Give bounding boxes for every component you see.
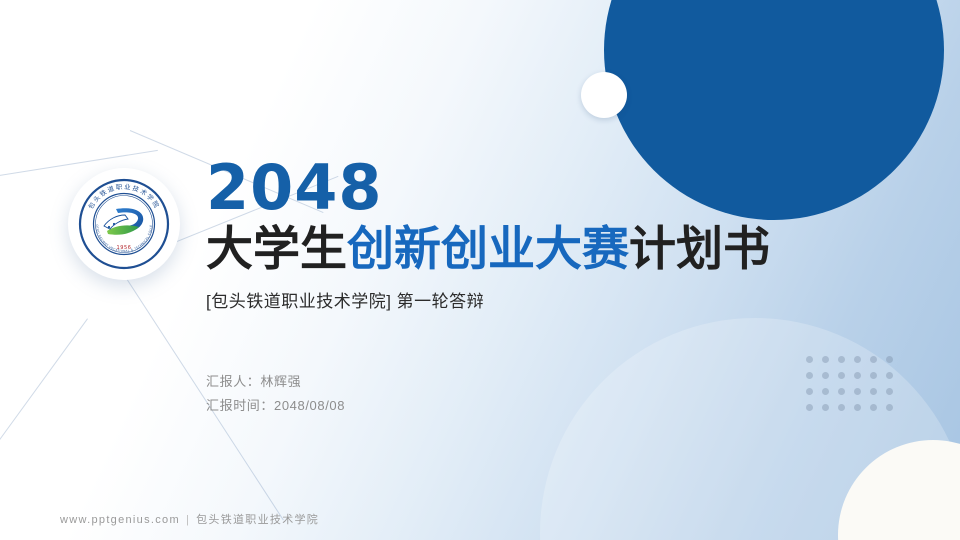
footer-website: www.pptgenius.com [60, 514, 180, 526]
presentation-meta: 汇报人：林辉强 汇报时间：2048/08/08 [206, 370, 345, 418]
footer: www.pptgenius.com|包头铁道职业技术学院 [60, 511, 319, 527]
main-headline: 大学生创新创业大赛计划书 [206, 223, 846, 276]
dot-grid-decoration [806, 356, 902, 420]
college-seal-icon: 包头铁道职业技术学院 BAOTOU RAILWAY VOCATIONAL & T… [76, 176, 172, 272]
headline-tail: 计划书 [629, 222, 770, 275]
subtitle: [包头铁道职业技术学院] 第一轮答辩 [206, 287, 846, 312]
report-date-line: 汇报时间：2048/08/08 [206, 394, 345, 418]
faint-large-circle-shape [540, 318, 960, 540]
presenter-line: 汇报人：林辉强 [206, 370, 345, 394]
headline-highlight: 创新创业大赛 [347, 222, 629, 275]
footer-separator: | [186, 514, 190, 526]
headline-lead: 大学生 [206, 222, 347, 275]
year-heading: 2048 [206, 158, 846, 219]
svg-text:1956: 1956 [116, 245, 131, 251]
college-logo-badge: 包头铁道职业技术学院 BAOTOU RAILWAY VOCATIONAL & T… [68, 168, 180, 280]
cream-circle-shape [838, 440, 960, 540]
footer-organization: 包头铁道职业技术学院 [196, 514, 319, 526]
decorative-line [0, 318, 88, 480]
white-accent-circle-shape [581, 72, 627, 118]
presentation-title-slide: 包头铁道职业技术学院 BAOTOU RAILWAY VOCATIONAL & T… [0, 0, 960, 540]
title-block: 2048 大学生创新创业大赛计划书 [包头铁道职业技术学院] 第一轮答辩 [206, 158, 846, 312]
